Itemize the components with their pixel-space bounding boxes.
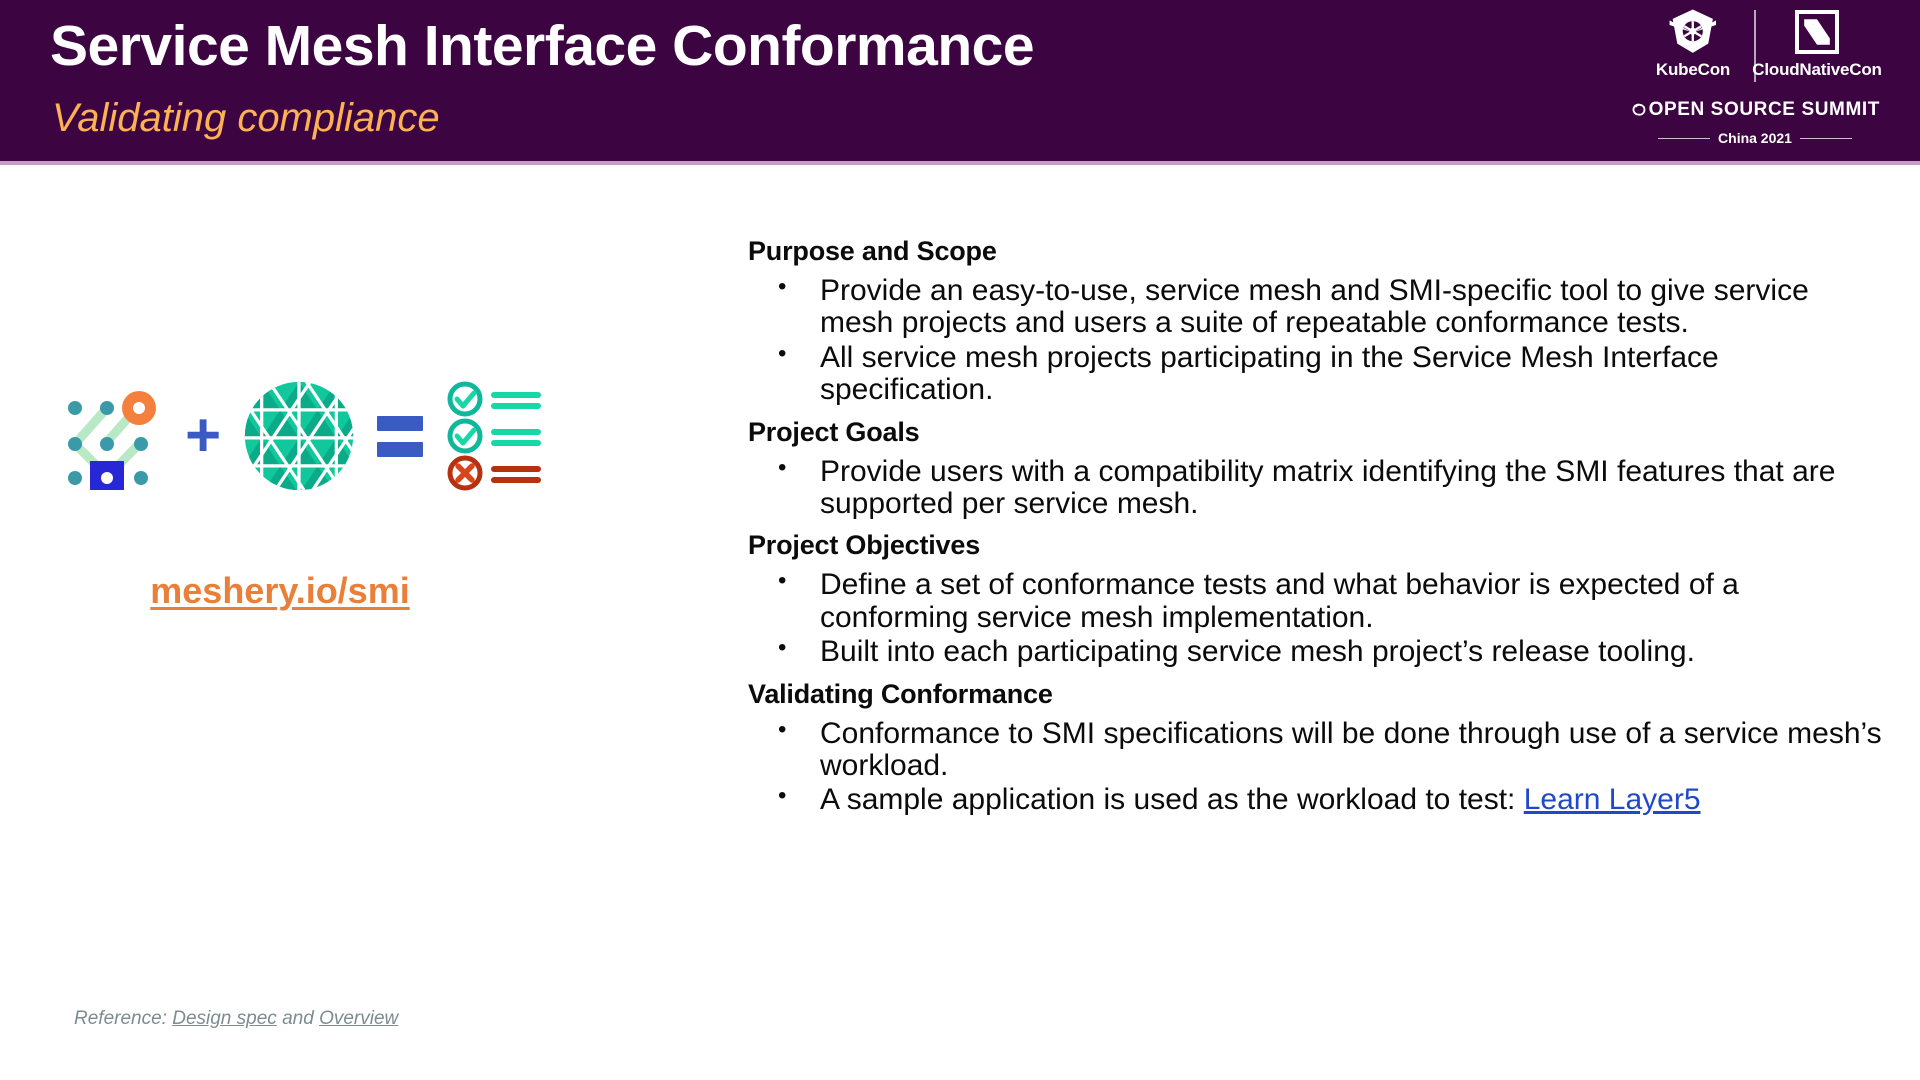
left-graphic-column: +	[0, 180, 740, 920]
summit-s-icon	[1630, 93, 1647, 127]
checklist-row-fail	[450, 458, 541, 488]
bullet-list: Conformance to SMI specifications will b…	[748, 718, 1888, 817]
section-validating-conformance: Validating Conformance Conformance to SM…	[748, 679, 1888, 817]
learn-layer5-link[interactable]: Learn Layer5	[1524, 783, 1701, 816]
section-heading: Project Objectives	[748, 530, 1888, 561]
section-purpose-and-scope: Purpose and Scope Provide an easy-to-use…	[748, 236, 1888, 407]
section-project-objectives: Project Objectives Define a set of confo…	[748, 530, 1888, 668]
conference-logo: KubeCon CloudNativeCon OPEN SOURCE SUMMI…	[1630, 8, 1880, 154]
reference-conjunction: and	[277, 1008, 319, 1029]
overview-link[interactable]: Overview	[319, 1008, 398, 1029]
meshery-smi-link[interactable]: meshery.io/smi	[55, 570, 505, 612]
smi-sphere-logo	[243, 380, 355, 492]
reference-prefix: Reference:	[74, 1008, 172, 1029]
kubernetes-helm-icon	[1668, 8, 1718, 56]
summit-location-year: China 2021	[1718, 130, 1792, 146]
list-item: Built into each participating service me…	[748, 636, 1888, 668]
cloudnativecon-label: CloudNativeCon	[1752, 60, 1881, 80]
kubecon-label: KubeCon	[1656, 60, 1730, 80]
section-heading: Validating Conformance	[748, 679, 1888, 710]
page-title: Service Mesh Interface Conformance	[50, 14, 1034, 80]
meshery-dot	[68, 437, 82, 451]
summit-label: OPEN SOURCE SUMMIT	[1649, 99, 1880, 121]
page-subtitle: Validating compliance	[52, 95, 440, 141]
cloudnativecon-logo: CloudNativeCon	[1762, 8, 1872, 80]
header-underline	[0, 161, 1920, 165]
section-project-goals: Project Goals Provide users with a compa…	[748, 417, 1888, 521]
list-item: Define a set of conformance tests and wh…	[748, 569, 1888, 634]
meshery-dot	[134, 471, 148, 485]
section-heading: Project Goals	[748, 417, 1888, 448]
rule-left	[1658, 138, 1710, 139]
summit-location-row: China 2021	[1630, 130, 1880, 146]
meshery-dot	[100, 437, 114, 451]
list-item-with-link: A sample application is used as the work…	[748, 784, 1888, 816]
open-source-summit-logo: OPEN SOURCE SUMMIT	[1630, 93, 1880, 127]
bullet-list: Provide an easy-to-use, service mesh and…	[748, 275, 1888, 407]
slide-header: Service Mesh Interface Conformance Valid…	[0, 0, 1920, 161]
list-item-text: A sample application is used as the work…	[820, 783, 1524, 816]
cncf-square-icon	[1793, 8, 1841, 56]
meshery-dot	[134, 437, 148, 451]
checklist-row-pass-1	[450, 384, 541, 414]
conformance-equation: +	[55, 380, 547, 492]
list-item: Conformance to SMI specifications will b…	[748, 718, 1888, 783]
equals-bar-top	[377, 416, 423, 431]
meshery-dot	[68, 471, 82, 485]
list-item: All service mesh projects participating …	[748, 342, 1888, 407]
rule-right	[1800, 138, 1852, 139]
checklist-row-pass-2	[450, 421, 541, 451]
list-item: Provide an easy-to-use, service mesh and…	[748, 275, 1888, 340]
design-spec-link[interactable]: Design spec	[172, 1008, 277, 1029]
conformance-checklist	[445, 381, 547, 491]
kubecon-logo: KubeCon	[1638, 8, 1748, 80]
bullet-list: Provide users with a compatibility matri…	[748, 456, 1888, 521]
equals-operator	[377, 416, 423, 457]
meshery-dot	[100, 401, 114, 415]
reference-footer: Reference: Design spec and Overview	[74, 1008, 398, 1030]
content-column: Purpose and Scope Provide an easy-to-use…	[748, 236, 1888, 827]
list-item: Provide users with a compatibility matri…	[748, 456, 1888, 521]
bullet-list: Define a set of conformance tests and wh…	[748, 569, 1888, 668]
meshery-dot	[68, 401, 82, 415]
meshery-logo	[55, 382, 163, 490]
section-heading: Purpose and Scope	[748, 236, 1888, 267]
plus-operator: +	[185, 405, 221, 467]
logo-divider	[1754, 10, 1756, 82]
equals-bar-bottom	[377, 442, 423, 457]
